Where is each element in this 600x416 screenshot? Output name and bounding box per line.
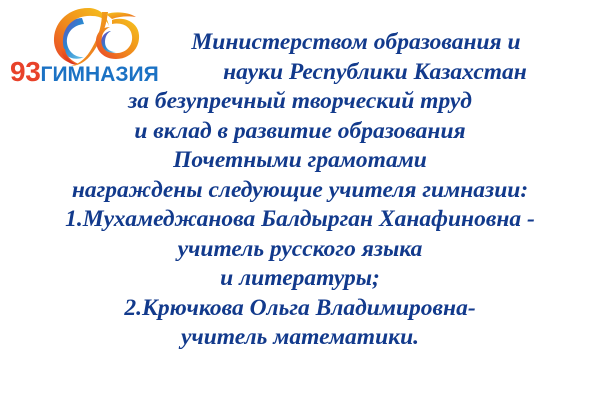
awardee-2-name: 2.Крючкова Ольга Владимировна- bbox=[0, 294, 600, 324]
awardee-1-role-line-1: учитель русского языка bbox=[0, 235, 600, 265]
awardee-2-role: учитель математики. bbox=[0, 323, 600, 353]
announcement-line-5: Почетными грамотами bbox=[0, 146, 600, 176]
announcement-line-2: науки Республики Казахстан bbox=[0, 58, 600, 88]
announcement-line-1: Министерством образования и bbox=[0, 28, 600, 58]
awardee-1-name: 1.Мухамеджанова Балдырган Ханафиновна - bbox=[0, 205, 600, 235]
announcement-line-4: и вклад в развитие образования bbox=[0, 117, 600, 147]
announcement-line-6: награждены следующие учителя гимназии: bbox=[0, 176, 600, 206]
awardee-1-role-line-2: и литературы; bbox=[0, 264, 600, 294]
announcement-document: 93ГИМНАЗИЯ Министерством образования и н… bbox=[0, 0, 600, 416]
announcement-line-3: за безупречный творческий труд bbox=[0, 87, 600, 117]
announcement-text: Министерством образования и науки Респуб… bbox=[0, 28, 600, 353]
